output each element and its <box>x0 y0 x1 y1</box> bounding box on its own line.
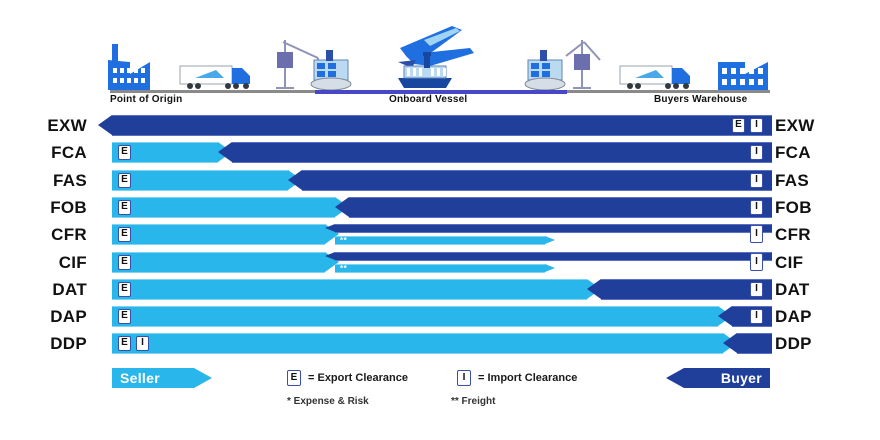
legend-note-freight: ** Freight <box>451 396 495 407</box>
row-track: EI <box>112 276 772 303</box>
stage-label-buyers-warehouse: Buyers Warehouse <box>654 94 747 105</box>
row-track: EI <box>112 194 772 221</box>
buyer-bar <box>349 197 772 218</box>
badge-import-right: I <box>750 225 763 243</box>
badge-export-left: E <box>118 227 131 242</box>
row-track: EI <box>112 330 772 357</box>
incoterm-row-cfr: CFRCFR**EI <box>0 221 880 248</box>
freight-marker: ** <box>340 236 347 245</box>
transport-scene: Point of Origin Onboard Vessel Buyers Wa… <box>0 0 880 112</box>
row-label-left-dap: DAP <box>50 307 87 327</box>
row-label-left-exw: EXW <box>47 116 87 136</box>
row-label-right-cfr: CFR <box>775 225 811 245</box>
legend-export-text: = Export Clearance <box>308 372 408 384</box>
freight-bar <box>335 236 545 245</box>
badge-export-left: E <box>118 336 131 351</box>
row-track: EI <box>112 139 772 166</box>
row-label-right-exw: EXW <box>775 116 815 136</box>
row-label-right-dat: DAT <box>775 280 810 300</box>
airplane-icon <box>398 26 474 68</box>
row-label-right-fob: FOB <box>775 198 812 218</box>
row-track: EI <box>112 112 772 139</box>
seller-bar <box>112 252 325 273</box>
incoterm-row-fas: FASFASEI <box>0 167 880 194</box>
seller-bar <box>112 197 335 218</box>
incoterm-row-ddp: DDPDDPEI <box>0 330 880 357</box>
badge-import-right: I <box>750 282 763 297</box>
crane-hoist-icon <box>574 54 590 70</box>
incoterm-row-dat: DATDATEI <box>0 276 880 303</box>
legend: Seller Buyer E = Export Clearance I = Im… <box>0 360 880 420</box>
crane-hoist-icon <box>277 52 293 68</box>
buyer-bar <box>232 142 772 163</box>
buyer-bar <box>302 170 772 191</box>
badge-export-left: E <box>118 173 131 188</box>
badge-import-right: I <box>750 173 763 188</box>
row-track: EI <box>112 303 772 330</box>
row-label-right-dap: DAP <box>775 307 812 327</box>
row-label-left-fca: FCA <box>51 143 87 163</box>
buyer-bar <box>601 279 772 300</box>
row-label-left-fas: FAS <box>53 171 87 191</box>
row-label-right-cif: CIF <box>775 253 803 273</box>
container-icon <box>311 50 351 90</box>
seller-bar <box>112 306 718 327</box>
buyer-risk-bar <box>335 252 772 261</box>
badge-export-right: E <box>732 118 745 133</box>
badge-import-right: I <box>750 118 763 133</box>
badge-import-right: I <box>750 309 763 324</box>
warehouse-icon <box>718 62 768 90</box>
container-icon <box>525 50 565 90</box>
freight-marker: ** <box>340 264 347 273</box>
truck-icon <box>620 66 690 89</box>
freight-bar <box>335 264 545 273</box>
incoterm-row-cif: CIFCIF**EI <box>0 249 880 276</box>
row-label-right-fca: FCA <box>775 143 811 163</box>
row-label-left-cif: CIF <box>59 253 87 273</box>
stage-label-point-of-origin: Point of Origin <box>110 94 182 105</box>
legend-note-expense: * Expense & Risk <box>287 396 369 407</box>
badge-export-left: E <box>118 255 131 270</box>
badge-import-right: I <box>750 253 763 271</box>
badge-import-right: I <box>750 200 763 215</box>
incoterm-rows: EXWEXWEIFCAFCAEIFASFASEIFOBFOBEICFRCFR**… <box>0 112 880 358</box>
badge-export-left: E <box>118 282 131 297</box>
seller-bar <box>112 224 325 245</box>
row-label-right-fas: FAS <box>775 171 809 191</box>
seller-bar <box>112 170 288 191</box>
stage-label-onboard-vessel: Onboard Vessel <box>389 94 467 105</box>
legend-buyer-arrow: Buyer <box>684 368 770 388</box>
buyer-bar <box>112 115 772 136</box>
incoterm-row-dap: DAPDAPEI <box>0 303 880 330</box>
buyer-bar <box>737 333 772 354</box>
badge-export-left: E <box>118 200 131 215</box>
legend-import-text: = Import Clearance <box>478 372 577 384</box>
buyer-risk-bar <box>335 224 772 233</box>
row-label-right-ddp: DDP <box>775 334 812 354</box>
legend-seller-arrow: Seller <box>112 368 194 388</box>
factory-icon <box>108 44 150 90</box>
badge-export-left: E <box>118 309 131 324</box>
row-label-left-ddp: DDP <box>50 334 87 354</box>
seller-bar <box>112 279 587 300</box>
badge-import-left: I <box>136 336 149 351</box>
row-track: **EI <box>112 221 772 248</box>
badge-export-left: E <box>118 145 131 160</box>
seller-bar <box>112 333 723 354</box>
row-label-left-cfr: CFR <box>51 225 87 245</box>
row-label-left-fob: FOB <box>50 198 87 218</box>
incoterms-diagram: Point of Origin Onboard Vessel Buyers Wa… <box>0 0 880 440</box>
row-track: **EI <box>112 249 772 276</box>
row-track: EI <box>112 167 772 194</box>
row-label-left-dat: DAT <box>52 280 87 300</box>
incoterm-row-fob: FOBFOBEI <box>0 194 880 221</box>
incoterm-row-exw: EXWEXWEI <box>0 112 880 139</box>
badge-import-right: I <box>750 145 763 160</box>
truck-icon <box>180 66 250 89</box>
legend-export-badge: E <box>287 370 301 386</box>
legend-import-badge: I <box>457 370 471 386</box>
incoterm-row-fca: FCAFCAEI <box>0 139 880 166</box>
